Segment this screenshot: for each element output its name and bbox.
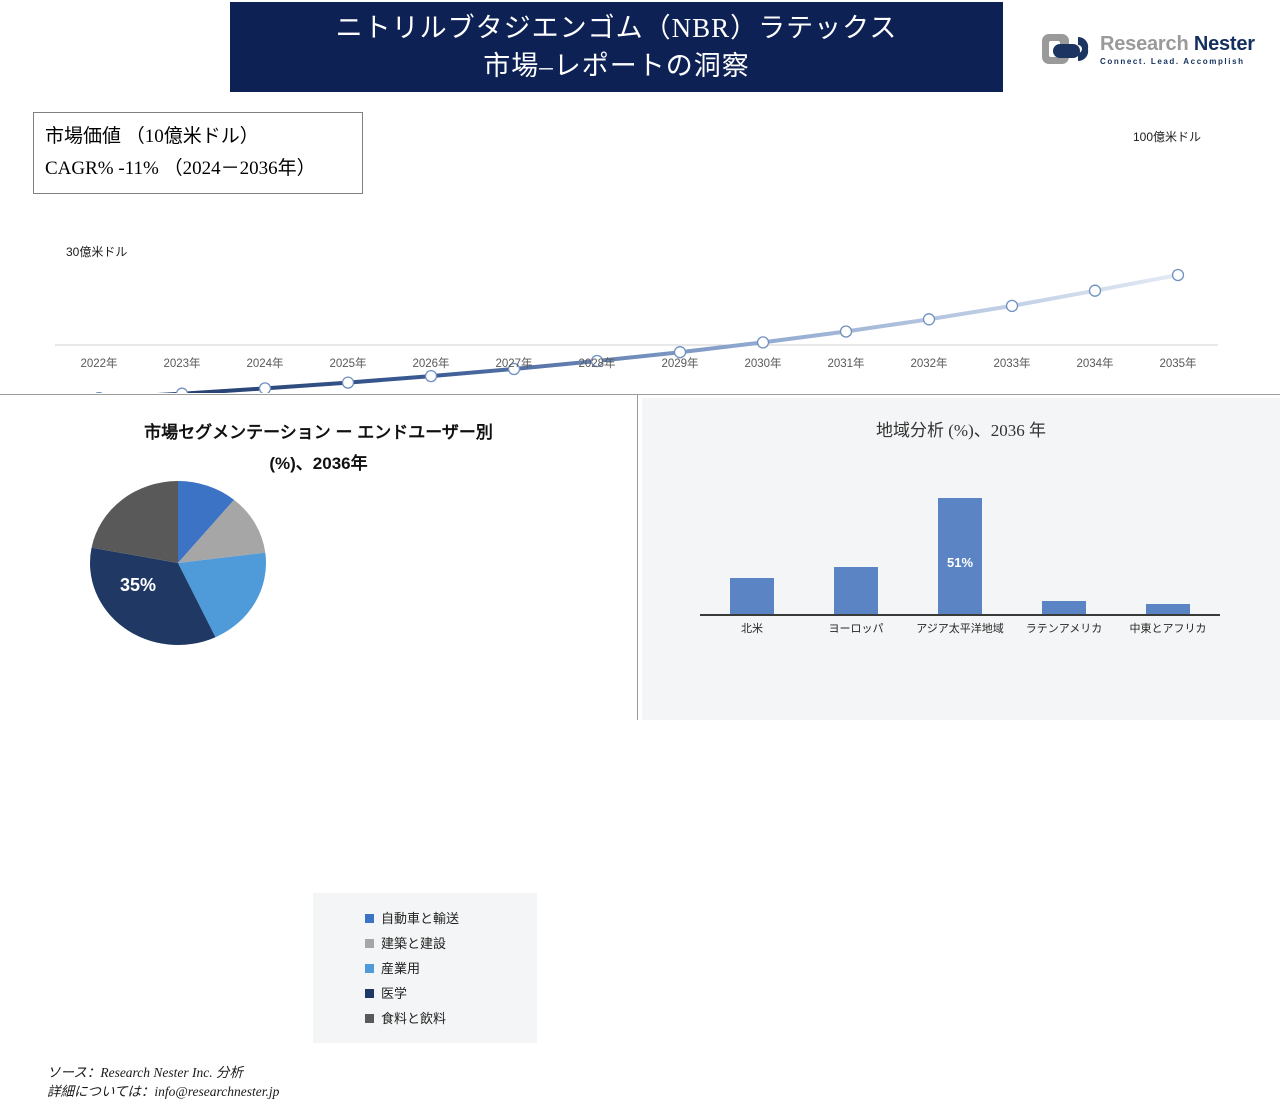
pie-highlight-label: 35% — [120, 575, 156, 596]
bar-rect — [1042, 601, 1086, 615]
market-value-label: 市場価値 （10億米ドル） — [45, 121, 362, 153]
end-value-label: 100億米ドル — [1133, 128, 1201, 145]
line-markers — [94, 270, 1184, 394]
legend-swatch-icon — [365, 1014, 374, 1023]
legend-label: 産業用 — [381, 956, 420, 981]
bar-value-label: 51% — [947, 555, 973, 570]
report-title-line-1: ニトリルブタジエンゴム（NBR）ラテックス — [336, 9, 898, 47]
bar-rect — [834, 567, 878, 615]
legend-swatch-icon — [365, 914, 374, 923]
x-axis-label: 2027年 — [479, 355, 549, 371]
x-axis-label: 2030年 — [728, 355, 798, 371]
logo-text: Research Nester Connect. Lead. Accomplis… — [1100, 33, 1255, 66]
line-series-path — [99, 275, 1178, 393]
segmentation-title-line-1: 市場セグメンテーション ー エンドユーザー別 — [0, 417, 637, 448]
bar-rect — [730, 578, 774, 615]
segmentation-title: 市場セグメンテーション ー エンドユーザー別 (%)、2036年 — [0, 417, 637, 479]
x-axis-label: 2026年 — [396, 355, 466, 371]
x-axis-label: 2025年 — [313, 355, 383, 371]
bar-category-label: 北米 — [700, 620, 804, 636]
regional-analysis-panel: 地域分析 (%)、2036 年 51% 北米ヨーロッパアジア太平洋地域ラテンアメ… — [642, 398, 1280, 720]
pie-slices — [90, 481, 266, 645]
source-note: ソース：Research Nester Inc. 分析 詳細については：info… — [47, 1063, 279, 1101]
x-axis-label: 2031年 — [811, 355, 881, 371]
bar-slot — [1116, 470, 1220, 615]
logo-wordmark: Research Nester — [1100, 33, 1255, 56]
bar-slot: 51% — [908, 470, 1012, 615]
bar-slot — [1012, 470, 1116, 615]
legend-swatch-icon — [365, 989, 374, 998]
segmentation-pie-chart: 35% — [88, 480, 268, 646]
title-bar: ニトリルブタジエンゴム（NBR）ラテックス 市場–レポートの洞察 — [230, 2, 1003, 92]
source-line-1: ソース：Research Nester Inc. 分析 — [47, 1063, 279, 1082]
segmentation-panel: 市場セグメンテーション ー エンドユーザー別 (%)、2036年 35% 自動車… — [0, 395, 637, 720]
x-axis-label: 2022年 — [64, 355, 134, 371]
x-axis-label: 2029年 — [645, 355, 715, 371]
line-marker — [758, 337, 769, 348]
line-marker — [841, 326, 852, 337]
line-marker — [260, 383, 271, 393]
bar-axis-line — [700, 614, 1220, 616]
pie-legend: 自動車と輸送建築と建設産業用医学食料と飲料 — [313, 893, 537, 1043]
report-title-line-2: 市場–レポートの洞察 — [483, 47, 750, 85]
bar-slot — [804, 470, 908, 615]
bar-category-label: アジア太平洋地域 — [908, 620, 1012, 636]
logo-mark-icon — [1040, 32, 1092, 66]
bar-category-labels: 北米ヨーロッパアジア太平洋地域ラテンアメリカ中東とアフリカ — [700, 620, 1220, 636]
legend-label: 自動車と輸送 — [381, 906, 459, 931]
logo-word-nester: Nester — [1194, 33, 1255, 55]
line-marker — [1090, 285, 1101, 296]
line-marker — [426, 371, 437, 382]
start-value-label: 30億米ドル — [66, 243, 127, 260]
bar-category-label: ラテンアメリカ — [1012, 620, 1116, 636]
logo-tagline: Connect. Lead. Accomplish — [1100, 57, 1255, 66]
legend-item: 医学 — [365, 981, 537, 1006]
bar-category-label: 中東とアフリカ — [1116, 620, 1220, 636]
x-axis-label: 2024年 — [230, 355, 300, 371]
line-marker — [1007, 300, 1018, 311]
cagr-label: CAGR% -11% （2024－2036年） — [45, 153, 362, 185]
regional-analysis-title: 地域分析 (%)、2036 年 — [642, 416, 1280, 441]
legend-item: 産業用 — [365, 956, 537, 981]
line-marker — [343, 377, 354, 388]
bar-slot — [700, 470, 804, 615]
legend-item: 食料と飲料 — [365, 1006, 537, 1031]
legend-swatch-icon — [365, 939, 374, 948]
x-axis-label: 2028年 — [562, 355, 632, 371]
x-axis-label: 2023年 — [147, 355, 217, 371]
x-axis-label: 2035年 — [1143, 355, 1213, 371]
vertical-divider — [637, 395, 638, 720]
legend-label: 建築と建設 — [381, 931, 446, 956]
legend-item: 自動車と輸送 — [365, 906, 537, 931]
research-nester-logo: Research Nester Connect. Lead. Accomplis… — [1040, 25, 1255, 73]
line-marker — [924, 314, 935, 325]
line-marker — [1173, 270, 1184, 281]
source-line-2: 詳細については：info@researchnester.jp — [47, 1082, 279, 1101]
legend-item: 建築と建設 — [365, 931, 537, 956]
x-axis-label: 2034年 — [1060, 355, 1130, 371]
bar-rect: 51% — [938, 498, 982, 615]
bar-category-label: ヨーロッパ — [804, 620, 908, 636]
legend-label: 食料と飲料 — [381, 1006, 446, 1031]
market-value-box: 市場価値 （10億米ドル） CAGR% -11% （2024－2036年） — [33, 112, 363, 194]
logo-word-research: Research — [1100, 33, 1188, 55]
segmentation-title-line-2: (%)、2036年 — [0, 448, 637, 479]
header: ニトリルブタジエンゴム（NBR）ラテックス 市場–レポートの洞察 Researc… — [0, 0, 1280, 95]
regional-bar-plot: 51% — [700, 470, 1220, 615]
legend-swatch-icon — [365, 964, 374, 973]
line-marker — [94, 393, 105, 394]
x-axis-label: 2032年 — [894, 355, 964, 371]
legend-label: 医学 — [381, 981, 407, 1006]
pie-chart-svg — [88, 480, 268, 646]
x-axis-label: 2033年 — [977, 355, 1047, 371]
line-marker — [177, 388, 188, 393]
